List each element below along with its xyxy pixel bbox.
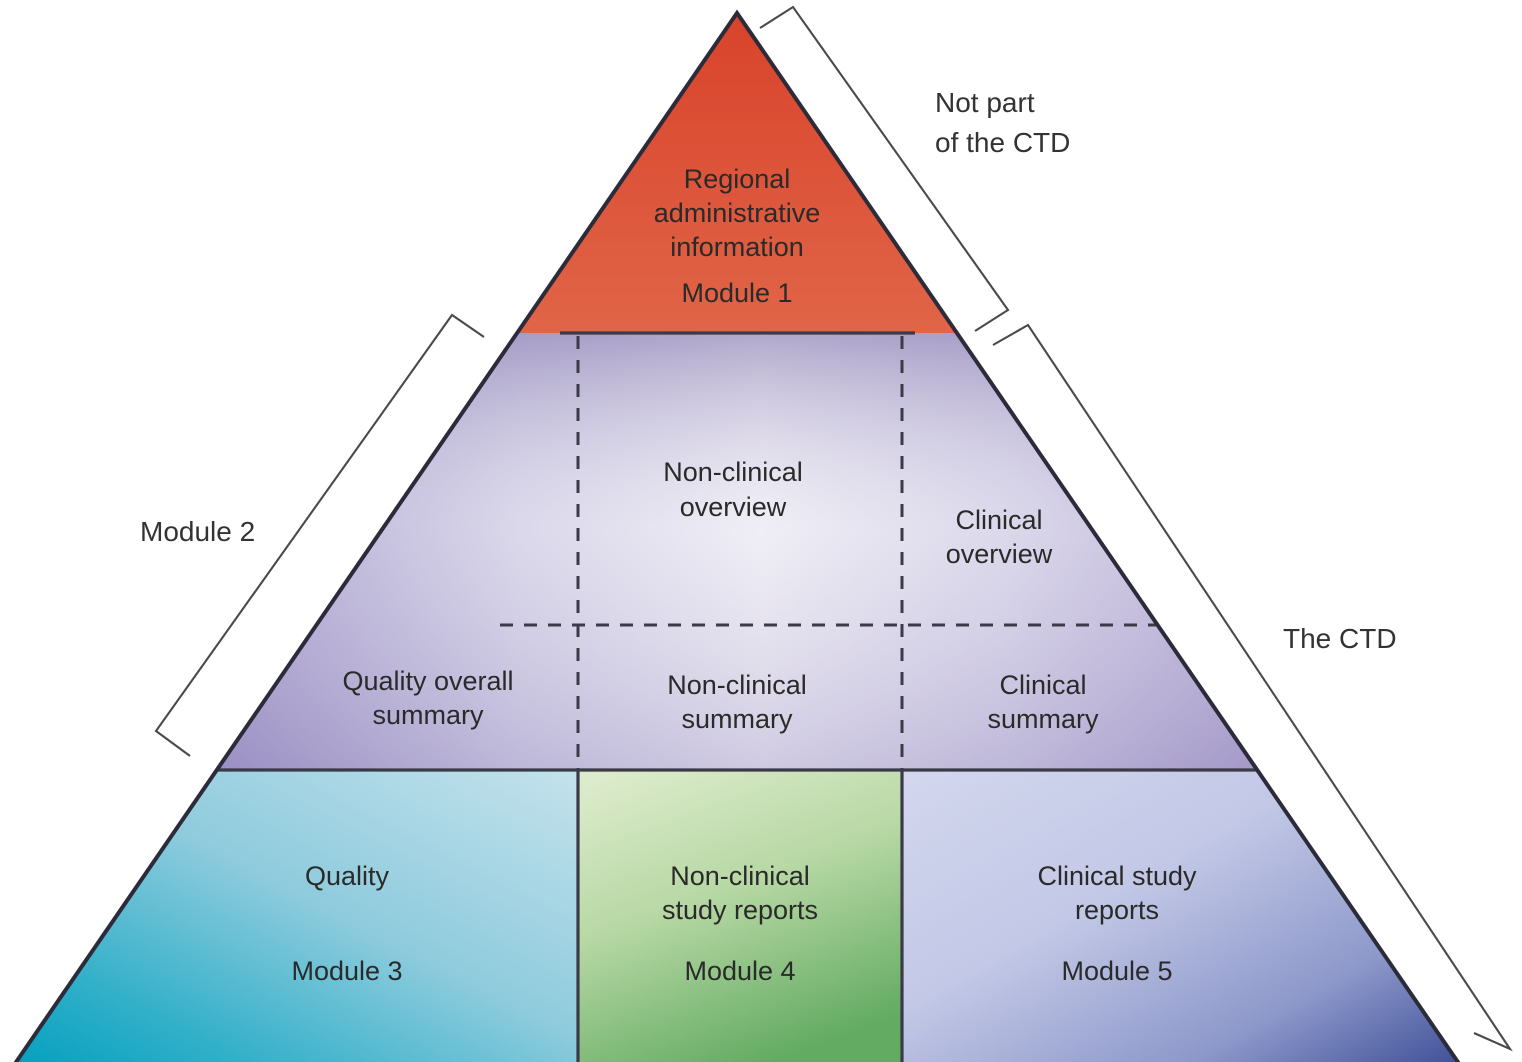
module1-line3: information [670,232,804,262]
nonclinical-overview-line2: overview [680,492,787,522]
module3-module-label: Module 3 [291,956,402,986]
clinical-summary-line2: summary [987,704,1099,734]
module1-module-label: Module 1 [681,278,792,308]
module4-module-label: Module 4 [684,956,795,986]
module1-line2: administrative [654,198,821,228]
module-2-label: Module 2 [140,516,255,547]
nonclinical-overview-line1: Non-clinical [663,457,803,487]
not-part-of-ctd-line1: Not part [935,87,1035,118]
nonclinical-summary-line2: summary [681,704,793,734]
module1-line1: Regional [684,164,791,194]
clinical-overview-line2: overview [946,539,1053,569]
the-ctd-label: The CTD [1283,623,1397,654]
module4-line2: study reports [662,895,818,925]
not-part-of-ctd-line2: of the CTD [935,127,1070,158]
module5-line2: reports [1075,895,1159,925]
diagram-canvas: Regional administrative information Modu… [0,0,1522,1062]
module5-line1: Clinical study [1037,861,1197,891]
quality-overall-summary-line2: summary [372,700,484,730]
module-3-region[interactable] [0,770,578,1062]
ctd-pyramid-svg: Regional administrative information Modu… [0,0,1522,1062]
quality-overall-summary-line1: Quality overall [342,666,513,696]
module3-line1: Quality [305,861,390,891]
clinical-summary-line1: Clinical [999,670,1086,700]
clinical-overview-line1: Clinical [955,505,1042,535]
module5-module-label: Module 5 [1061,956,1172,986]
nonclinical-summary-line1: Non-clinical [667,670,807,700]
module4-line1: Non-clinical [670,861,810,891]
